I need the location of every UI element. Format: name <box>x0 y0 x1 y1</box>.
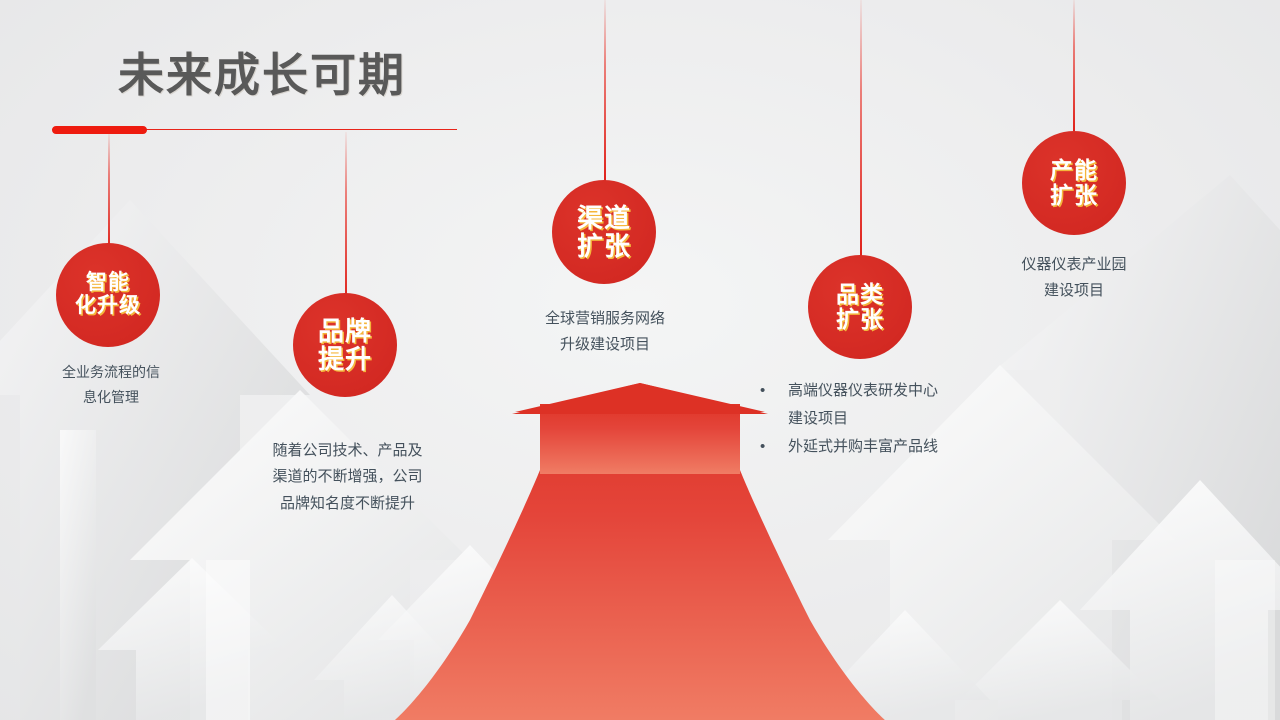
connector-line-category-expansion <box>860 0 862 256</box>
bubble-line-2: 扩张 <box>836 307 884 332</box>
bubble-line-1: 品牌 <box>318 317 372 345</box>
slide-canvas: 未来成长可期 智能 化升级 全业务流程的信 息化管理 品牌 提升 随着公司技术、… <box>0 0 1280 720</box>
caption-intelligent-upgrade: 全业务流程的信 息化管理 <box>46 360 176 409</box>
title-block: 未来成长可期 <box>52 50 472 101</box>
bubble-line-1: 渠道 <box>577 204 631 232</box>
bubble-capacity-expansion[interactable]: 产能 扩张 <box>1022 131 1126 235</box>
caption-line-2: 息化管理 <box>46 385 176 410</box>
page-title: 未来成长可期 <box>52 50 472 101</box>
list-item-text: 外延式并购丰富产品线 <box>788 433 938 461</box>
bullet-list-category-expansion: • 高端仪器仪表研发中心 建设项目 • 外延式并购丰富产品线 <box>760 377 1010 460</box>
bubble-line-1: 产能 <box>1050 158 1098 183</box>
connector-line-capacity-expansion <box>1073 0 1075 131</box>
bubble-line-2: 扩张 <box>577 232 631 260</box>
connector-line-intelligent-upgrade <box>108 132 110 254</box>
connector-line-brand-enhancement <box>345 132 347 305</box>
bubble-line-2: 扩张 <box>1050 183 1098 208</box>
caption-line-1: 全球营销服务网络 <box>515 306 695 332</box>
bullet-marker-icon: • <box>760 377 788 433</box>
caption-line-1: 仪器仪表产业园 <box>984 252 1164 278</box>
bubble-category-expansion[interactable]: 品类 扩张 <box>808 255 912 359</box>
title-underline-thick <box>52 126 147 134</box>
caption-line-1: 全业务流程的信 <box>46 360 176 385</box>
bubble-brand-enhancement[interactable]: 品牌 提升 <box>293 293 397 397</box>
caption-brand-enhancement: 随着公司技术、产品及 渠道的不断增强，公司 品牌知名度不断提升 <box>245 438 450 517</box>
bubble-line-2: 化升级 <box>75 295 141 318</box>
list-item: • 外延式并购丰富产品线 <box>760 433 1010 461</box>
list-item: • 高端仪器仪表研发中心 建设项目 <box>760 377 1010 433</box>
list-item-text: 高端仪器仪表研发中心 建设项目 <box>788 377 938 433</box>
caption-line-2: 升级建设项目 <box>515 332 695 358</box>
caption-line-3: 品牌知名度不断提升 <box>245 491 450 517</box>
caption-line-1: 随着公司技术、产品及 <box>245 438 450 464</box>
background-arrow-decoration <box>0 0 1280 720</box>
bullet-marker-icon: • <box>760 433 788 461</box>
connector-line-channel-expansion <box>604 0 606 182</box>
title-underline <box>52 126 457 134</box>
bubble-channel-expansion[interactable]: 渠道 扩张 <box>552 180 656 284</box>
bubble-line-2: 提升 <box>318 345 372 373</box>
bubble-line-1: 智能 <box>86 272 130 295</box>
caption-line-2: 渠道的不断增强，公司 <box>245 464 450 490</box>
caption-capacity-expansion: 仪器仪表产业园 建设项目 <box>984 252 1164 305</box>
bubble-intelligent-upgrade[interactable]: 智能 化升级 <box>56 243 160 347</box>
bubble-line-1: 品类 <box>836 282 884 307</box>
caption-line-2: 建设项目 <box>984 278 1164 304</box>
caption-channel-expansion: 全球营销服务网络 升级建设项目 <box>515 306 695 359</box>
